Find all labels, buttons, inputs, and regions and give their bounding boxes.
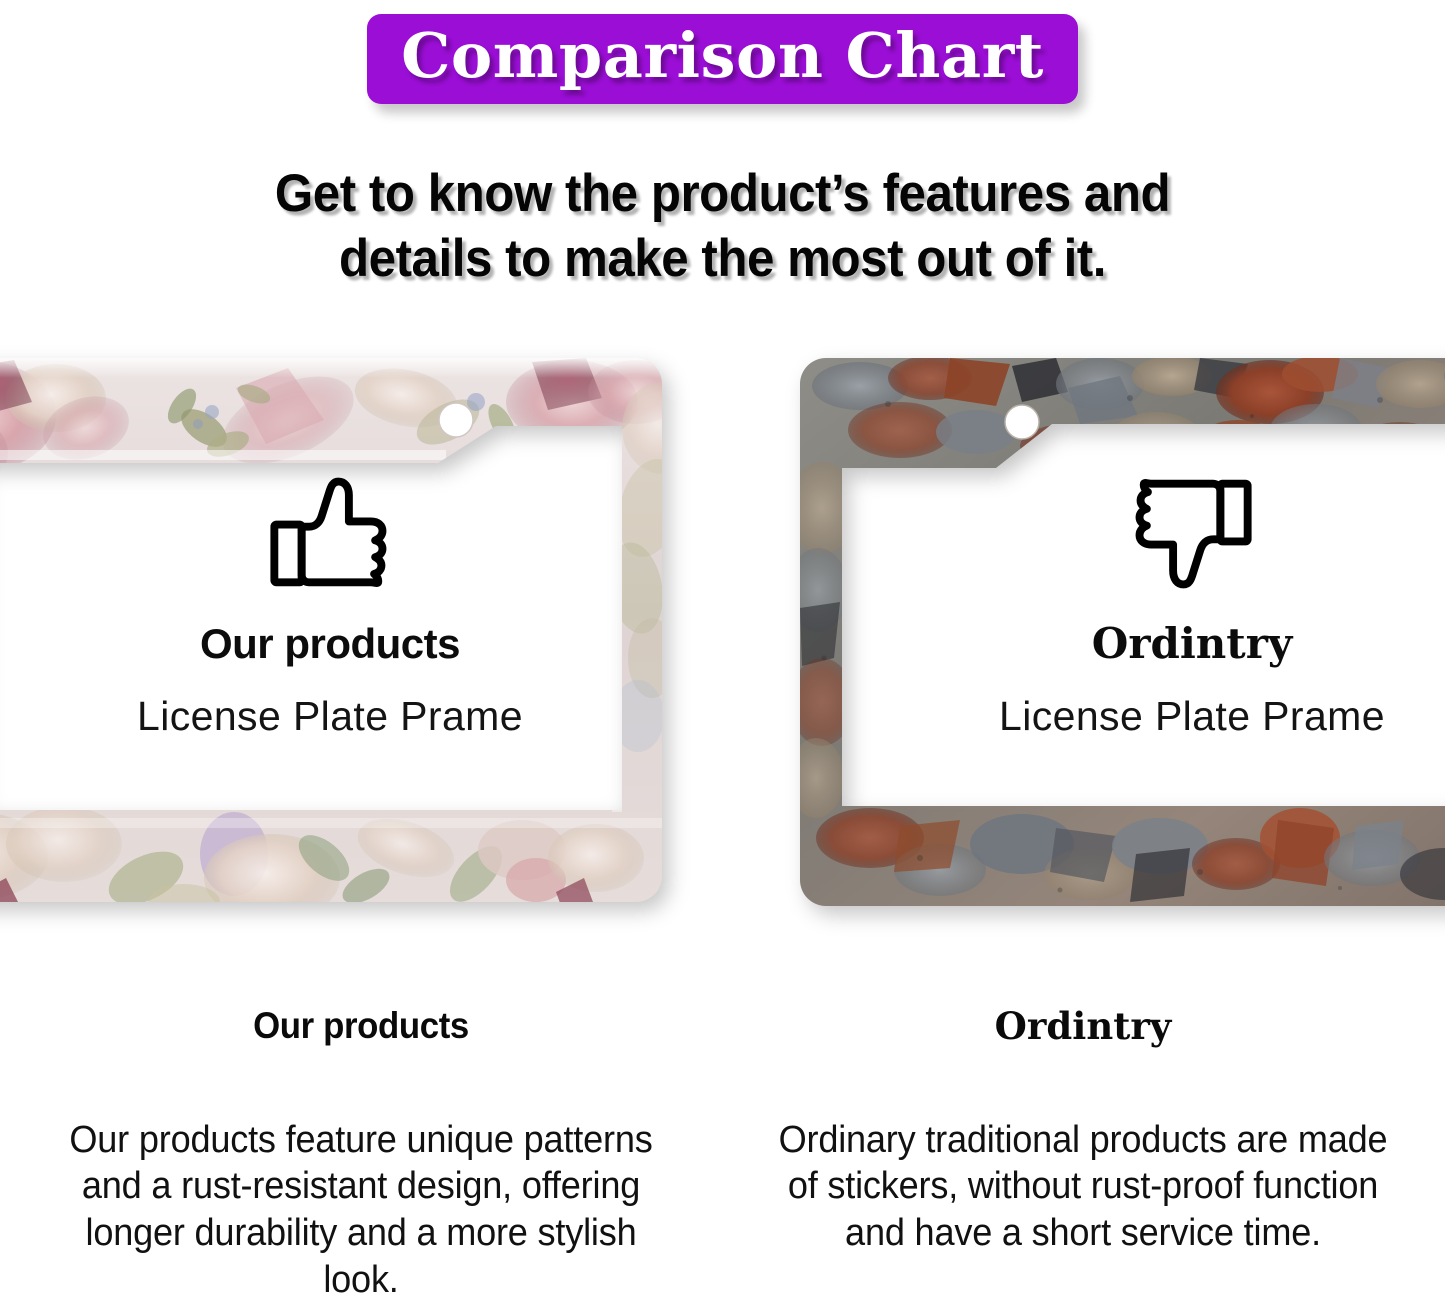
plate-title-left: Our products [0,622,660,666]
header-title-area: Comparison Chart [0,14,1445,104]
plate-title-right: Ordintry [862,622,1445,666]
page-subtitle: Get to know the product’s features and d… [51,162,1395,291]
subtitle-line-1: Get to know the product’s features and [51,162,1395,227]
plate-content-our-products: Our products License Plate Prame [0,470,660,739]
subtitle-line-2: details to make the most out of it. [51,227,1395,292]
description-heading-left: Our products [54,1006,669,1047]
page-title: Comparison Chart [401,22,1044,90]
description-column-ordintry: Ordintry Ordinary traditional products a… [722,990,1444,1314]
plate-subtitle-left: License Plate Prame [0,694,660,739]
description-body-right: Ordinary traditional products are made o… [772,1117,1393,1257]
plate-subtitle-right: License Plate Prame [862,694,1445,739]
comparison-descriptions: Our products Our products feature unique… [0,990,1445,1314]
thumbs-down-icon [1129,470,1255,596]
plate-content-ordintry: Ordintry License Plate Prame [862,470,1445,739]
description-body-left: Our products feature unique patterns and… [50,1117,671,1304]
description-column-our-products: Our products Our products feature unique… [0,990,722,1314]
comparison-chart-banner: Comparison Chart [367,14,1078,104]
description-heading-right: Ordintry [756,1006,1410,1047]
thumbs-up-icon [267,470,393,596]
